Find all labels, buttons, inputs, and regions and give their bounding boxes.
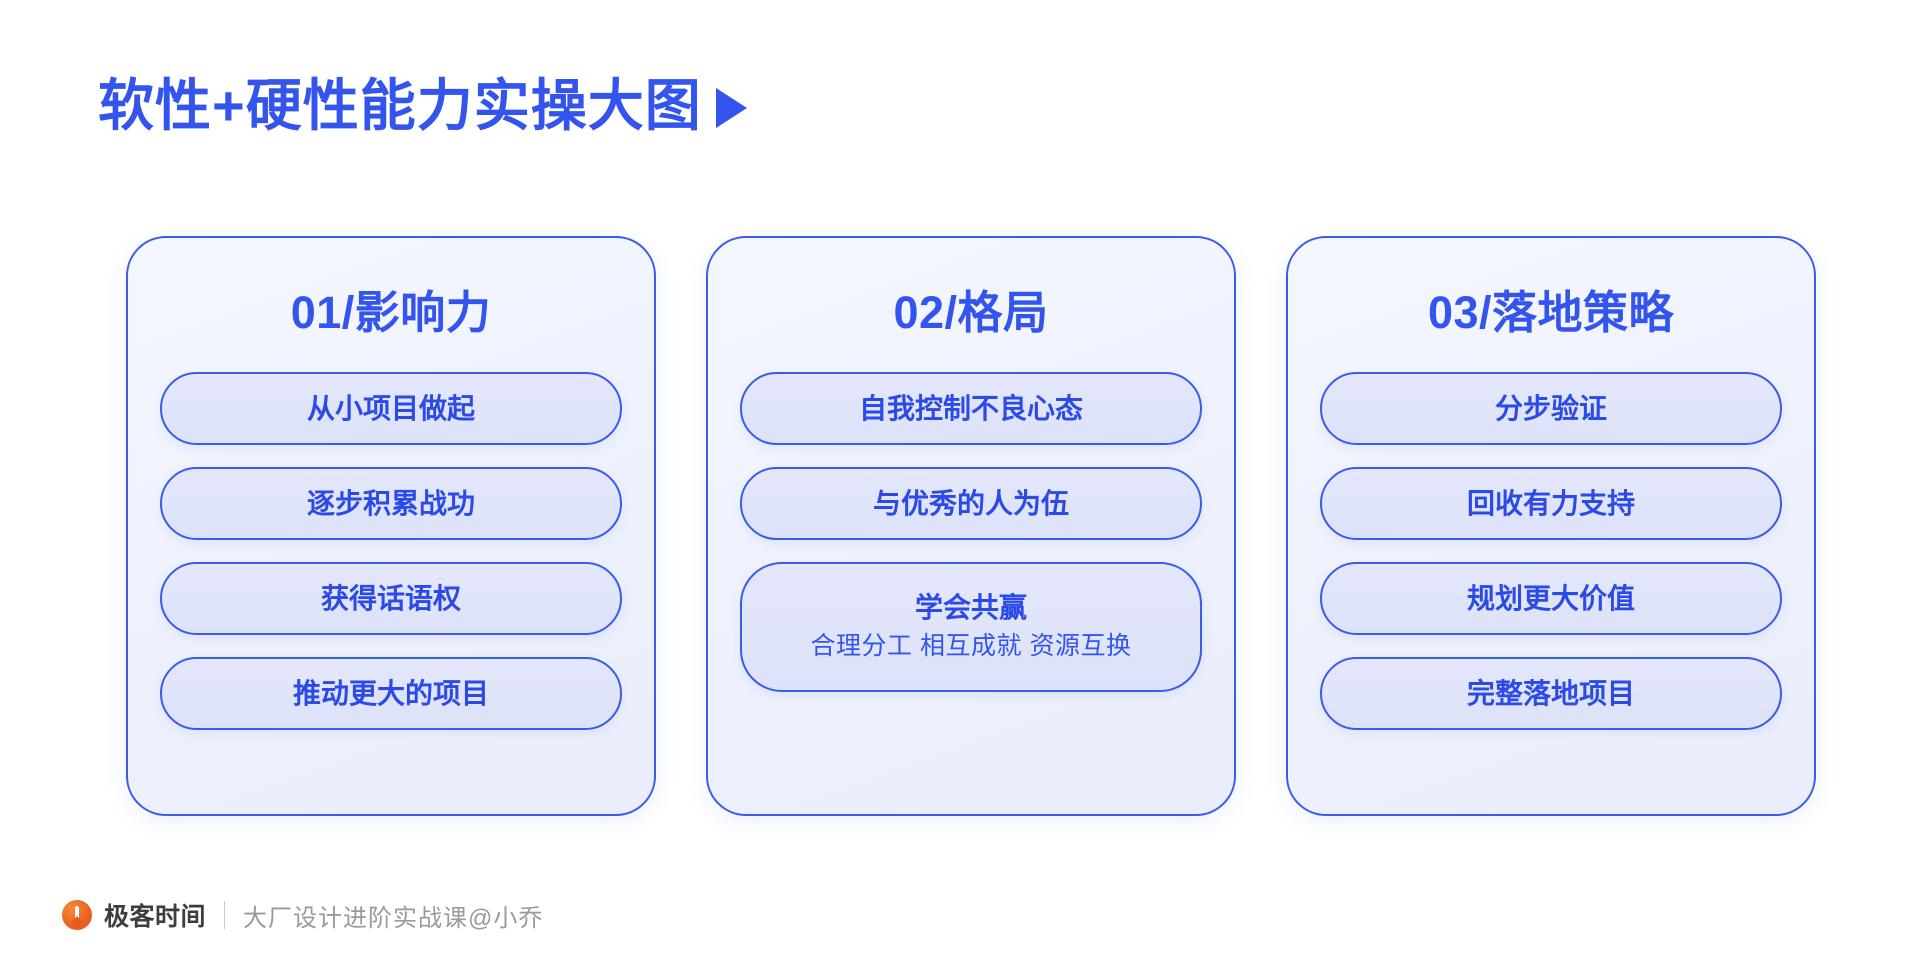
capability-pill[interactable]: 从小项目做起 [160,372,622,445]
capability-pill[interactable]: 自我控制不良心态 [740,372,1202,445]
play-triangle-icon [716,88,747,128]
card-heading: 01/影响力 [291,288,492,338]
capability-pill[interactable]: 推动更大的项目 [160,657,622,730]
capability-pill[interactable]: 学会共赢 合理分工 相互成就 资源互换 [740,562,1202,692]
geekbang-logo-icon [62,900,92,930]
brand-name: 极客时间 [104,897,206,933]
course-name: 大厂设计进阶实战课@小乔 [243,898,543,933]
capability-pill-title: 学会共赢 [915,590,1027,625]
capability-card-influence: 01/影响力 从小项目做起 逐步积累战功 获得话语权 推动更大的项目 [126,236,656,816]
card-heading: 02/格局 [893,288,1048,338]
capability-pill[interactable]: 逐步积累战功 [160,467,622,540]
footer-branding: 极客时间 大厂设计进阶实战课@小乔 [62,897,543,933]
capability-card-execution: 03/落地策略 分步验证 回收有力支持 规划更大价值 完整落地项目 [1286,236,1816,816]
capability-pill-subtitle: 合理分工 相互成就 资源互换 [811,631,1132,662]
page-title: 软性+硬性能力实操大图 [98,78,747,134]
footer-divider [224,901,225,929]
capability-pill[interactable]: 获得话语权 [160,562,622,635]
capability-pill[interactable]: 回收有力支持 [1320,467,1782,540]
capability-card-perspective: 02/格局 自我控制不良心态 与优秀的人为伍 学会共赢 合理分工 相互成就 资源… [706,236,1236,816]
card-heading: 03/落地策略 [1428,288,1674,338]
capability-pill[interactable]: 规划更大价值 [1320,562,1782,635]
capability-pill[interactable]: 完整落地项目 [1320,657,1782,730]
page-title-text: 软性+硬性能力实操大图 [98,78,702,134]
capability-pill[interactable]: 与优秀的人为伍 [740,467,1202,540]
capability-pill[interactable]: 分步验证 [1320,372,1782,445]
cards-row: 01/影响力 从小项目做起 逐步积累战功 获得话语权 推动更大的项目 02/格局… [0,236,1920,816]
